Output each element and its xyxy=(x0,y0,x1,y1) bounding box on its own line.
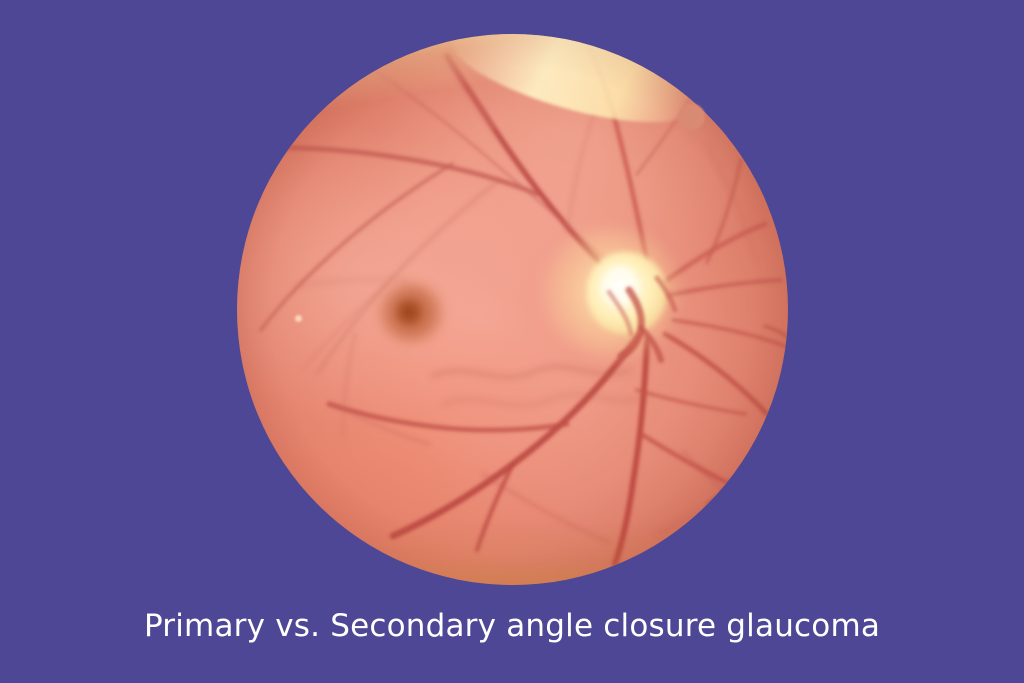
retina-vignette xyxy=(237,34,788,585)
slide-canvas: Primary vs. Secondary angle closure glau… xyxy=(0,0,1024,683)
fundus-image xyxy=(237,34,788,585)
retina-background xyxy=(237,34,788,585)
rim-notch-icon xyxy=(679,104,705,130)
page-title: Primary vs. Secondary angle closure glau… xyxy=(0,604,1024,648)
